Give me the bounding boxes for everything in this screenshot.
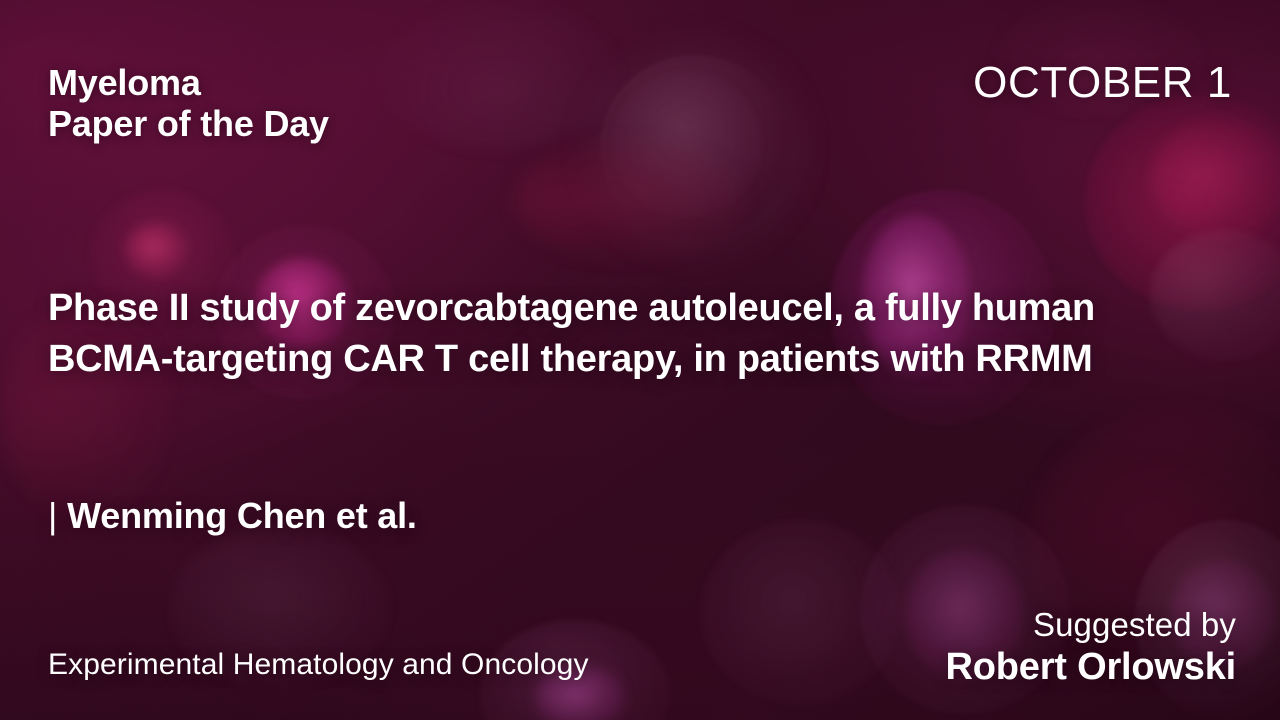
paper-title: Phase II study of zevorcabtagene autoleu…: [48, 283, 1128, 384]
paper-of-the-day-card: Myeloma Paper of the Day OCTOBER 1 Phase…: [0, 0, 1280, 720]
date-label: OCTOBER 1: [973, 58, 1232, 108]
author-names: Wenming Chen et al.: [67, 495, 417, 536]
brand-line-2: Paper of the Day: [48, 103, 329, 144]
suggested-by-block: Suggested by Robert Orlowski: [946, 606, 1237, 690]
paper-authors: |Wenming Chen et al.: [48, 495, 417, 537]
card-content: Myeloma Paper of the Day OCTOBER 1 Phase…: [0, 0, 1280, 720]
brand-line-1: Myeloma: [48, 62, 329, 103]
journal-name: Experimental Hematology and Oncology: [48, 648, 589, 682]
author-separator: |: [48, 495, 57, 536]
suggested-by-label: Suggested by: [946, 606, 1237, 645]
suggested-by-name: Robert Orlowski: [946, 645, 1237, 690]
brand-heading: Myeloma Paper of the Day: [48, 62, 329, 145]
